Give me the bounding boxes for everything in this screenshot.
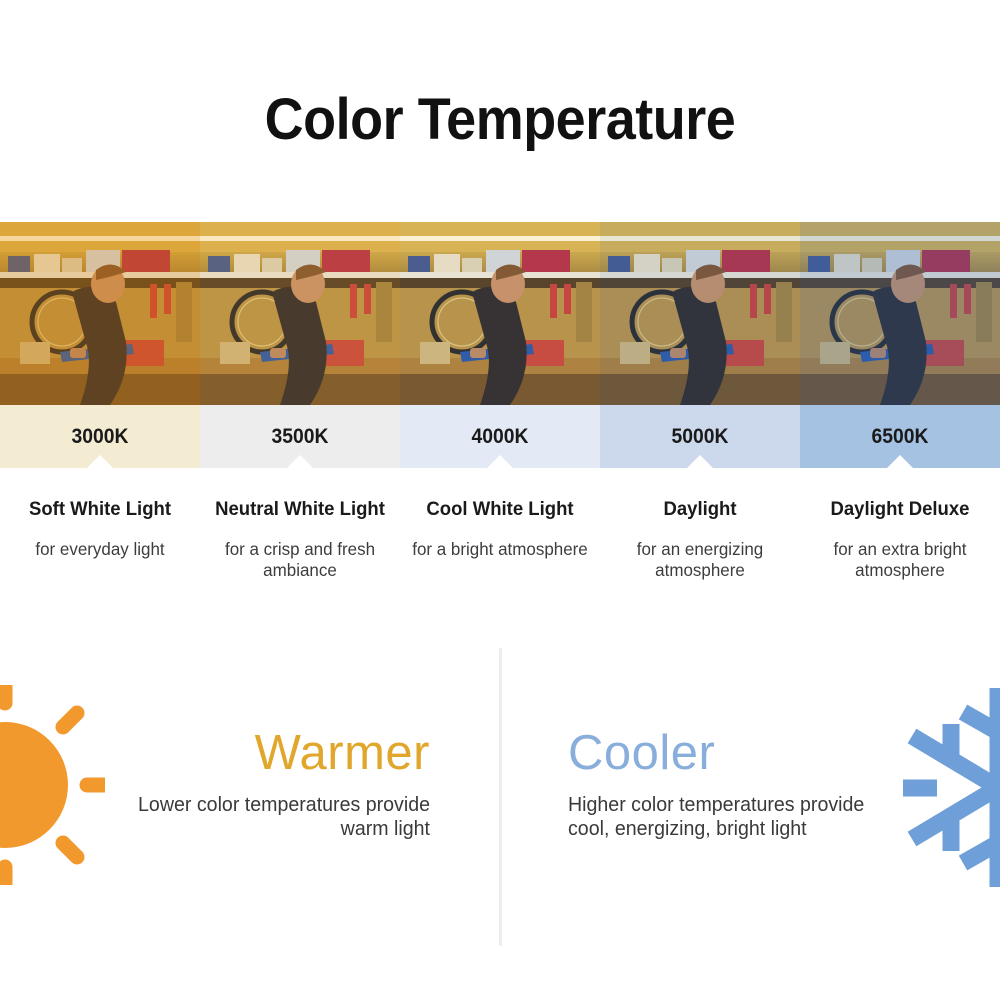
photo-cell [600, 222, 800, 405]
warmer-block: Warmer Lower color temperatures provide … [130, 725, 430, 841]
swatch-notch-icon [687, 455, 713, 468]
warmer-copy: Lower color temperatures provide warm li… [136, 793, 430, 841]
light-type-name: Daylight [613, 498, 788, 521]
light-type-name: Daylight Deluxe [813, 498, 988, 521]
cooler-block: Cooler Higher color temperatures provide… [568, 725, 888, 841]
light-type-description: for a bright atmosphere [411, 539, 589, 560]
kelvin-label: 4000K [472, 425, 529, 449]
kelvin-label: 3500K [272, 425, 329, 449]
description-column: Daylight for an energizing atmosphere [600, 498, 800, 581]
workshop-photo [400, 222, 600, 405]
workshop-photo [600, 222, 800, 405]
description-column: Soft White Light for everyday light [0, 498, 200, 581]
description-row: Soft White Light for everyday light Neut… [0, 498, 1000, 581]
kelvin-label: 3000K [72, 425, 129, 449]
kelvin-swatch-3500k[interactable]: 3500K [200, 405, 400, 468]
swatch-notch-icon [487, 455, 513, 468]
cooler-heading: Cooler [568, 725, 888, 781]
workshop-photo [200, 222, 400, 405]
photo-cell [400, 222, 600, 405]
swatch-notch-icon [887, 455, 913, 468]
cooler-copy: Higher color temperatures provide cool, … [568, 793, 882, 841]
light-type-name: Neutral White Light [213, 498, 388, 521]
swatch-notch-icon [87, 455, 113, 468]
kelvin-swatch-band: 3000K 3500K 4000K 5000K 6500K [0, 405, 1000, 468]
description-column: Daylight Deluxe for an extra bright atmo… [800, 498, 1000, 581]
description-column: Cool White Light for a bright atmosphere [400, 498, 600, 581]
kelvin-label: 6500K [872, 425, 929, 449]
snowflake-icon [893, 680, 1000, 895]
light-type-description: for a crisp and fresh ambiance [211, 539, 389, 581]
light-type-name: Cool White Light [413, 498, 588, 521]
photo-cell [800, 222, 1000, 405]
sun-icon [0, 685, 105, 885]
photo-strip [0, 222, 1000, 405]
light-type-description: for everyday light [11, 539, 189, 560]
workshop-photo [800, 222, 1000, 405]
kelvin-swatch-4000k[interactable]: 4000K [400, 405, 600, 468]
page-title: Color Temperature [35, 86, 965, 153]
description-column: Neutral White Light for a crisp and fres… [200, 498, 400, 581]
swatch-notch-icon [287, 455, 313, 468]
light-type-description: for an extra bright atmosphere [811, 539, 989, 581]
photo-cell [0, 222, 200, 405]
light-type-description: for an energizing atmosphere [611, 539, 789, 581]
kelvin-swatch-5000k[interactable]: 5000K [600, 405, 800, 468]
section-divider [499, 648, 502, 946]
kelvin-swatch-6500k[interactable]: 6500K [800, 405, 1000, 468]
kelvin-label: 5000K [672, 425, 729, 449]
kelvin-swatch-3000k[interactable]: 3000K [0, 405, 200, 468]
light-type-name: Soft White Light [13, 498, 188, 521]
warmer-heading: Warmer [130, 725, 430, 781]
workshop-photo [0, 222, 200, 405]
photo-cell [200, 222, 400, 405]
